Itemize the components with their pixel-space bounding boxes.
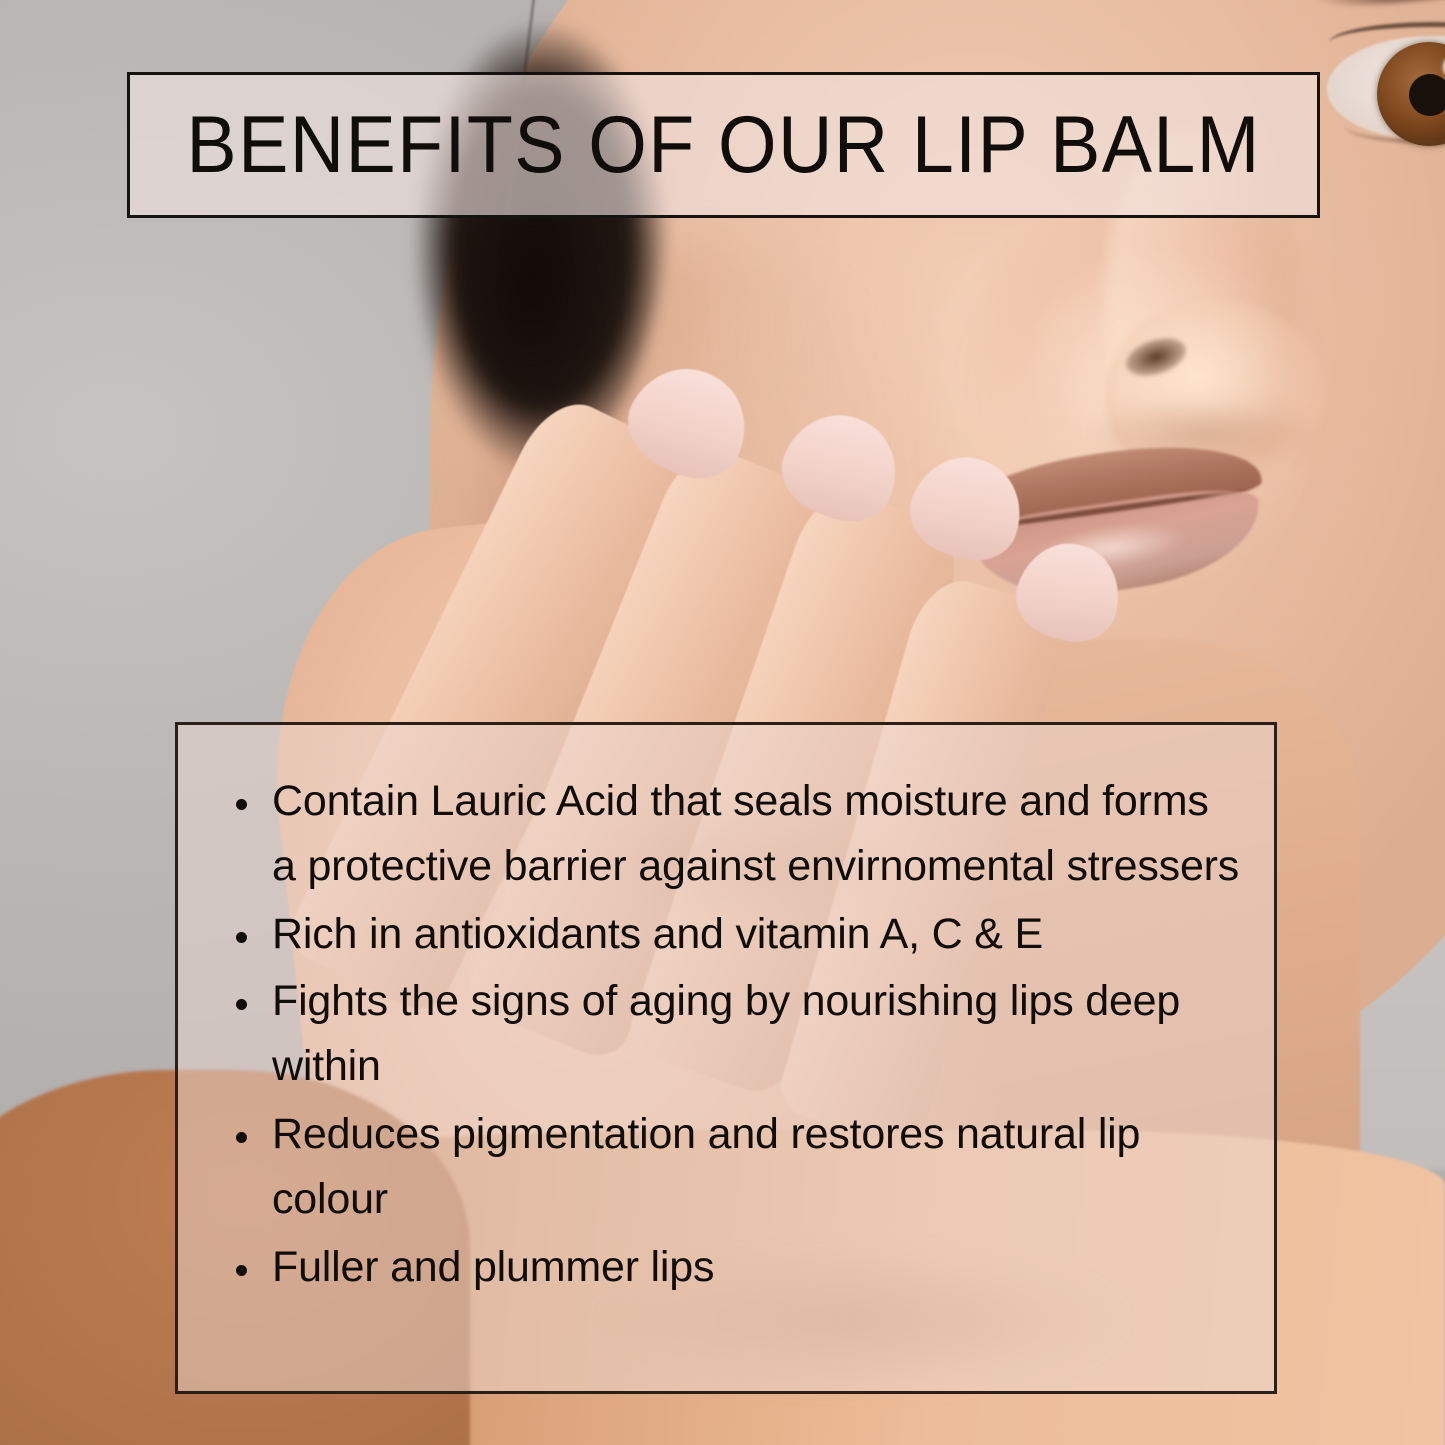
list-item: Contain Lauric Acid that seals moisture … [230,769,1244,900]
lip-balm-benefits-poster: BENEFITS OF OUR LIP BALM Contain Lauric … [0,0,1445,1445]
model-eye [1305,0,1445,180]
list-item: Fuller and plummer lips [230,1235,1244,1300]
benefits-panel: Contain Lauric Acid that seals moisture … [175,722,1277,1394]
page-title: BENEFITS OF OUR LIP BALM [186,99,1260,192]
eyebrow [1310,0,1445,13]
upper-eyelash [1329,22,1445,62]
lower-eyelash [1345,110,1445,144]
list-item: Rich in antioxidants and vitamin A, C & … [230,902,1244,967]
benefits-list: Contain Lauric Acid that seals moisture … [230,769,1244,1300]
title-banner: BENEFITS OF OUR LIP BALM [127,72,1320,218]
list-item: Fights the signs of aging by nourishing … [230,969,1244,1100]
list-item: Reduces pigmentation and restores natura… [230,1102,1244,1233]
